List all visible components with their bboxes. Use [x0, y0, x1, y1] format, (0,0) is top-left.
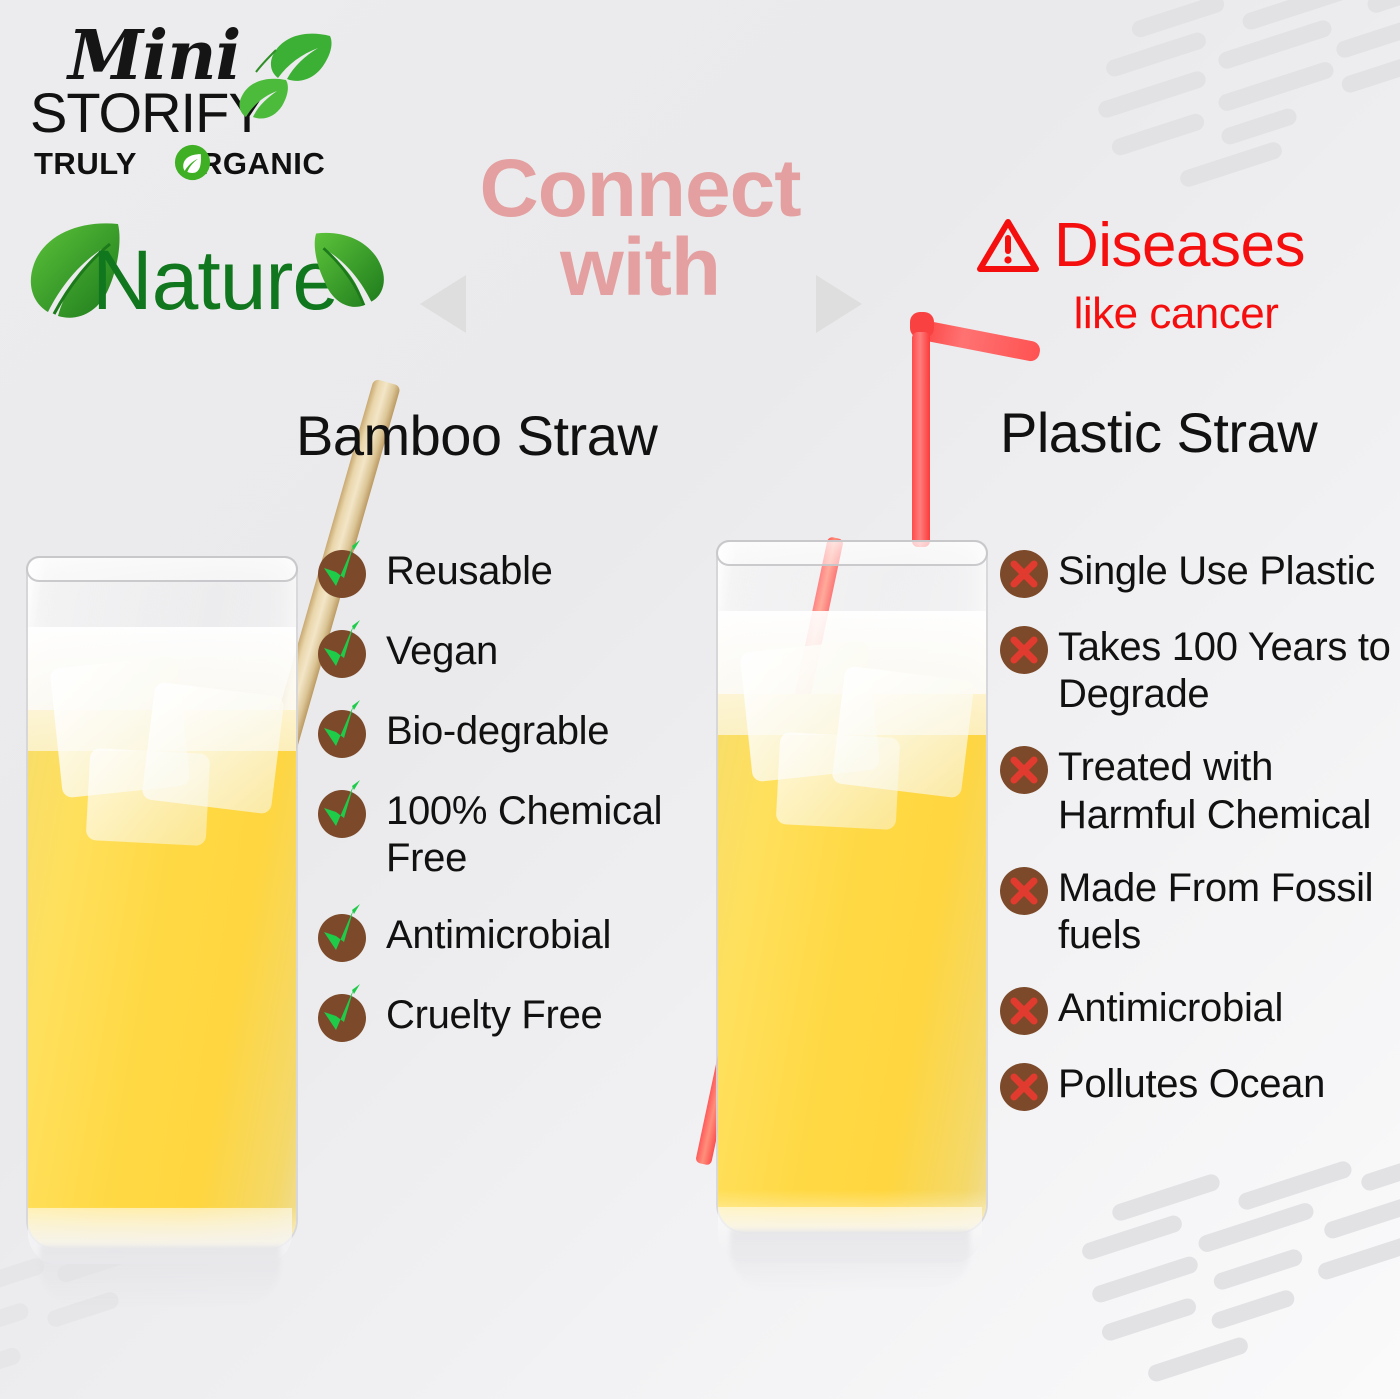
nature-headline: Nature: [10, 218, 390, 328]
check-icon: [318, 710, 366, 758]
dash-texture-top-right: [1120, 0, 1400, 170]
list-item: Treated with Harmful Chemical: [1000, 744, 1400, 838]
nature-label: Nature: [92, 232, 338, 329]
list-item: Pollutes Ocean: [1000, 1061, 1400, 1111]
connect-line-1: Connect: [430, 150, 850, 229]
connect-headline: Connect with: [430, 150, 850, 307]
list-item-label: Pollutes Ocean: [1058, 1061, 1325, 1108]
cross-icon: [1000, 867, 1048, 915]
ice-cube: [86, 748, 211, 846]
check-icon: [318, 994, 366, 1042]
bamboo-straw-title: Bamboo Straw: [296, 403, 657, 468]
list-item-label: Reusable: [386, 548, 553, 595]
list-item-label: Takes 100 Years to Degrade: [1058, 624, 1400, 718]
list-item: Reusable: [318, 548, 710, 598]
arrow-right-icon: [816, 275, 862, 333]
list-item: 100% Chemical Free: [318, 788, 710, 882]
dash-texture-bottom-right: [1110, 1179, 1400, 1399]
cross-icon: [1000, 550, 1048, 598]
list-item-label: Bio-degrable: [386, 708, 609, 755]
brand-tagline-right: RGANIC: [200, 146, 325, 182]
list-item-label: Antimicrobial: [386, 912, 611, 959]
list-item-label: 100% Chemical Free: [386, 788, 710, 882]
glass-reflection: [730, 1230, 970, 1290]
check-icon: [318, 790, 366, 838]
bamboo-benefits-list: Reusable Vegan Bio-degrable 100% Chemica…: [318, 548, 710, 1072]
check-icon: [318, 630, 366, 678]
glass-rim: [716, 540, 988, 566]
list-item-label: Antimicrobial: [1058, 985, 1283, 1032]
glass-body: [26, 556, 298, 1250]
cross-icon: [1000, 1063, 1048, 1111]
diseases-title: Diseases: [1054, 215, 1305, 277]
list-item: Cruelty Free: [318, 992, 710, 1042]
brand-tagline-left: TRULY: [34, 146, 137, 182]
list-item: Bio-degrable: [318, 708, 710, 758]
glass-reflection: [40, 1246, 280, 1306]
list-item-label: Treated with Harmful Chemical: [1058, 744, 1400, 838]
list-item: Takes 100 Years to Degrade: [1000, 624, 1400, 718]
list-item-label: Made From Fossil fuels: [1058, 865, 1400, 959]
arrow-left-icon: [420, 275, 466, 333]
leaf-pair-icon: [212, 24, 332, 134]
check-icon: [318, 914, 366, 962]
list-item: Antimicrobial: [1000, 985, 1400, 1035]
list-item-label: Cruelty Free: [386, 992, 602, 1039]
glass-rim: [26, 556, 298, 582]
plastic-straw-title: Plastic Straw: [1000, 400, 1317, 465]
leaf-icon: [310, 228, 394, 320]
check-icon: [318, 550, 366, 598]
plastic-drawbacks-list: Single Use Plastic Takes 100 Years to De…: [1000, 548, 1400, 1137]
cross-icon: [1000, 987, 1048, 1035]
list-item: Vegan: [318, 628, 710, 678]
list-item-label: Single Use Plastic: [1058, 548, 1375, 595]
warning-triangle-icon: [976, 217, 1040, 275]
cross-icon: [1000, 746, 1048, 794]
connect-line-2: with: [430, 229, 850, 308]
glass-body: [716, 540, 988, 1234]
list-item-label: Vegan: [386, 628, 498, 675]
list-item: Made From Fossil fuels: [1000, 865, 1400, 959]
list-item: Single Use Plastic: [1000, 548, 1400, 598]
brand-logo: Mini STORIFY TRULY RGANIC: [22, 18, 332, 183]
ice-cube: [776, 732, 901, 830]
diseases-subtitle: like cancer: [966, 289, 1386, 339]
cross-icon: [1000, 626, 1048, 674]
bamboo-straw-glass-image: [10, 556, 310, 1276]
list-item: Antimicrobial: [318, 912, 710, 962]
plastic-straw-glass-image: [700, 540, 1000, 1275]
diseases-headline: Diseases like cancer: [966, 215, 1386, 339]
poster-canvas: Mini STORIFY TRULY RGANIC Nature: [0, 0, 1400, 1399]
leaf-circle-icon: [174, 144, 211, 181]
